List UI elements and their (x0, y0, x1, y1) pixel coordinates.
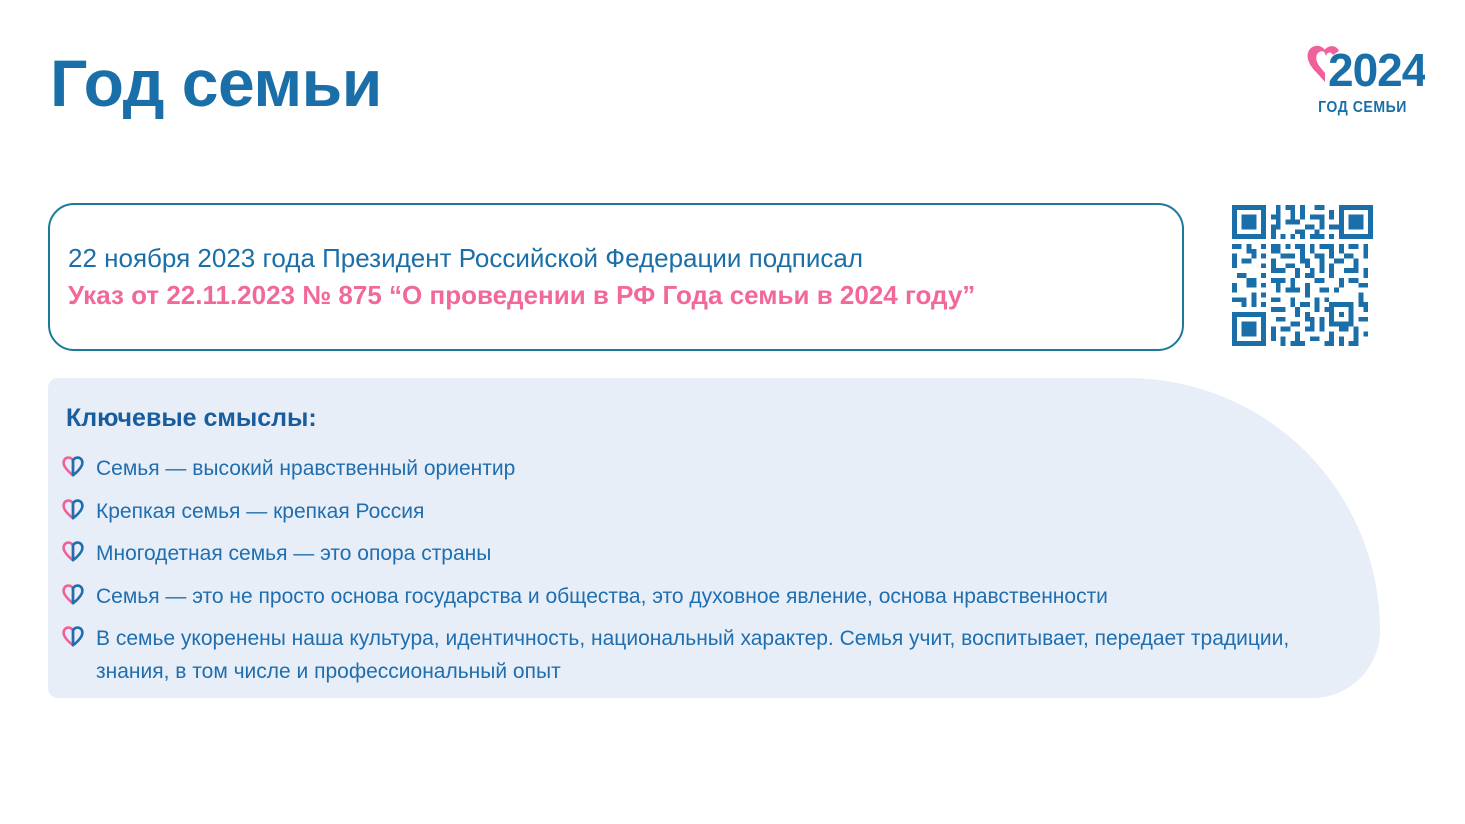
heart-bullet-icon (62, 541, 84, 562)
key-meanings-list: Семья — высокий нравственный ориентир Кр… (62, 453, 1360, 698)
logo-subtitle: ГОД СЕМЬИ (1308, 99, 1418, 117)
heart-bullet-icon (62, 499, 84, 520)
decree-number-text: Указ от 22.11.2023 № 875 “О проведении в… (68, 277, 1164, 314)
qr-code-icon[interactable] (1232, 205, 1373, 346)
heart-bullet-icon (62, 626, 84, 647)
slide-root: Год семьи 2024 ГОД СЕМЬИ 22 ноября 2023 … (0, 0, 1465, 824)
heart-icon (62, 499, 84, 520)
heart-icon (62, 456, 84, 477)
heart-bullet-icon (62, 584, 84, 605)
list-item: Семья — это не просто основа государства… (62, 581, 1360, 614)
decree-intro-text: 22 ноября 2023 года Президент Российской… (68, 240, 1164, 277)
list-item-label: Семья — это не просто основа государства… (96, 581, 1108, 614)
list-item: Крепкая семья — крепкая Россия (62, 496, 1360, 529)
list-item: Многодетная семья — это опора страны (62, 538, 1360, 571)
list-item-label: В семье укоренены наша культура, идентич… (96, 623, 1360, 688)
page-title: Год семьи (50, 50, 382, 116)
list-item-label: Крепкая семья — крепкая Россия (96, 496, 424, 529)
key-meanings-panel: Ключевые смыслы: Семья — высокий нравств… (48, 378, 1380, 698)
list-item-label: Многодетная семья — это опора страны (96, 538, 491, 571)
heart-icon (62, 541, 84, 562)
svg-text:2024: 2024 (1328, 44, 1425, 96)
heart-icon (62, 584, 84, 605)
list-item: Семья — высокий нравственный ориентир (62, 453, 1360, 486)
year-of-family-logo: 2024 ГОД СЕМЬИ (1300, 42, 1425, 120)
list-item: В семье укоренены наша культура, идентич… (62, 623, 1360, 688)
heart-icon (62, 626, 84, 647)
list-item-label: Семья — высокий нравственный ориентир (96, 453, 515, 486)
qr-code-image (1232, 205, 1373, 346)
logo-2024-mark: 2024 (1300, 42, 1425, 98)
key-meanings-heading: Ключевые смыслы: (66, 404, 317, 433)
decree-card: 22 ноября 2023 года Президент Российской… (48, 203, 1184, 351)
heart-bullet-icon (62, 456, 84, 477)
